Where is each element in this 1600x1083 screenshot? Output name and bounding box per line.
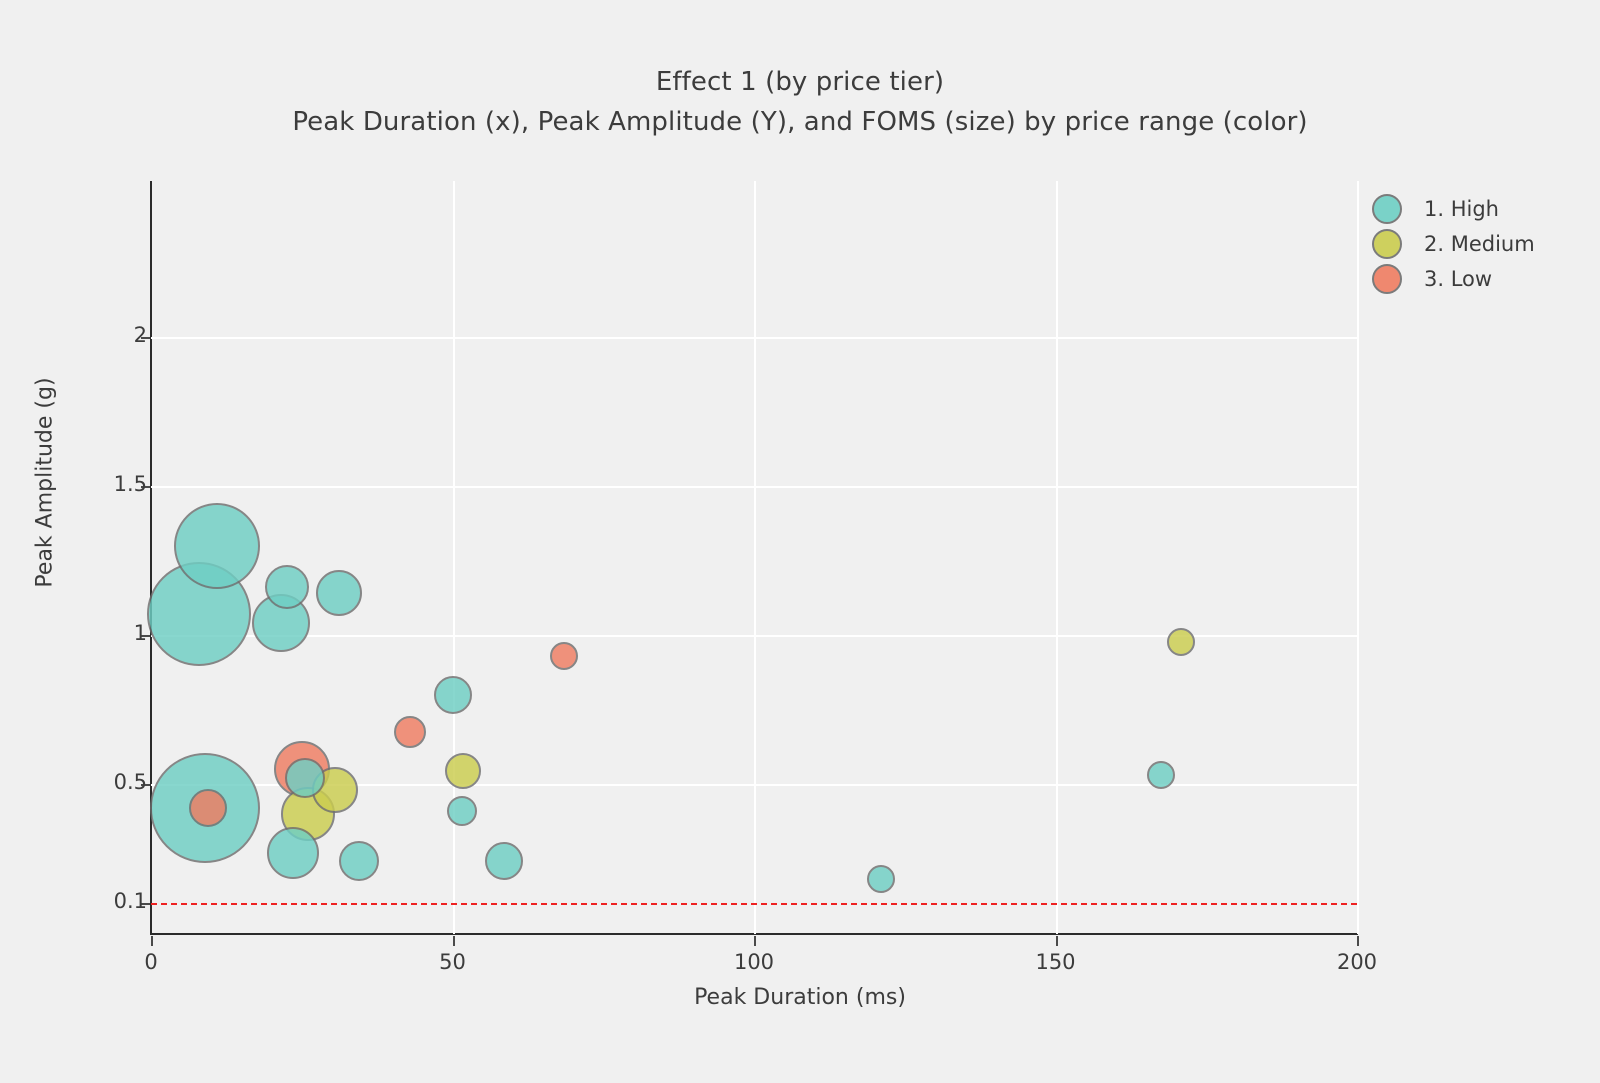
data-bubble (867, 865, 895, 893)
data-bubble (550, 642, 578, 670)
page-title: Effect 1 (by price tier) (0, 62, 1600, 102)
data-bubble (485, 842, 523, 880)
x-tick-mark (453, 936, 455, 946)
chart-subtitle: Peak Duration (x), Peak Amplitude (Y), a… (0, 102, 1600, 142)
data-bubble (316, 570, 362, 616)
x-tick-label: 100 (734, 950, 774, 974)
legend-swatch-icon (1372, 194, 1402, 224)
legend-swatch-icon (1372, 229, 1402, 259)
legend-item-label: 3. Low (1424, 267, 1492, 291)
chart-figure: Effect 1 (by price tier) Peak Duration (… (0, 0, 1600, 1083)
data-bubble (445, 753, 481, 789)
x-tick-label: 150 (1035, 950, 1075, 974)
gridline-vertical (1056, 181, 1058, 934)
data-bubble (339, 841, 379, 881)
legend-swatch-icon (1372, 264, 1402, 294)
y-axis-label: Peak Amplitude (g) (33, 233, 58, 733)
x-tick-mark (754, 936, 756, 946)
data-bubble (174, 503, 260, 589)
data-bubble (285, 758, 325, 798)
legend: 1. High2. Medium3. Low (1372, 192, 1592, 297)
legend-item-3[interactable]: 3. Low (1372, 262, 1592, 296)
data-bubble (1147, 761, 1175, 789)
chart-title-block: Effect 1 (by price tier) Peak Duration (… (0, 62, 1600, 142)
data-bubble (434, 676, 472, 714)
data-bubble (394, 716, 426, 748)
gridline-vertical (1357, 181, 1359, 934)
y-tick-label: 1.5 (114, 472, 147, 496)
y-tick-label: 0.5 (114, 770, 147, 794)
x-tick-mark (151, 936, 153, 946)
data-bubble (189, 789, 227, 827)
data-bubble (1167, 628, 1195, 656)
x-tick-label: 200 (1337, 950, 1377, 974)
x-axis-label: Peak Duration (ms) (0, 985, 1600, 1010)
legend-item-label: 1. High (1424, 197, 1499, 221)
x-tick-mark (1056, 936, 1058, 946)
x-tick-label: 0 (144, 950, 157, 974)
data-bubble (265, 565, 309, 609)
y-tick-label: 1 (134, 621, 147, 645)
threshold-line (151, 903, 1357, 905)
x-tick-mark (1357, 936, 1359, 946)
x-tick-label: 50 (439, 950, 466, 974)
data-bubble (267, 827, 319, 879)
plot-area (151, 181, 1357, 934)
y-tick-label: 0.1 (114, 889, 147, 913)
y-tick-label: 2 (134, 323, 147, 347)
data-bubble (447, 796, 477, 826)
legend-item-label: 2. Medium (1424, 232, 1535, 256)
legend-item-1[interactable]: 1. High (1372, 192, 1592, 226)
gridline-vertical (754, 181, 756, 934)
legend-item-2[interactable]: 2. Medium (1372, 227, 1592, 261)
